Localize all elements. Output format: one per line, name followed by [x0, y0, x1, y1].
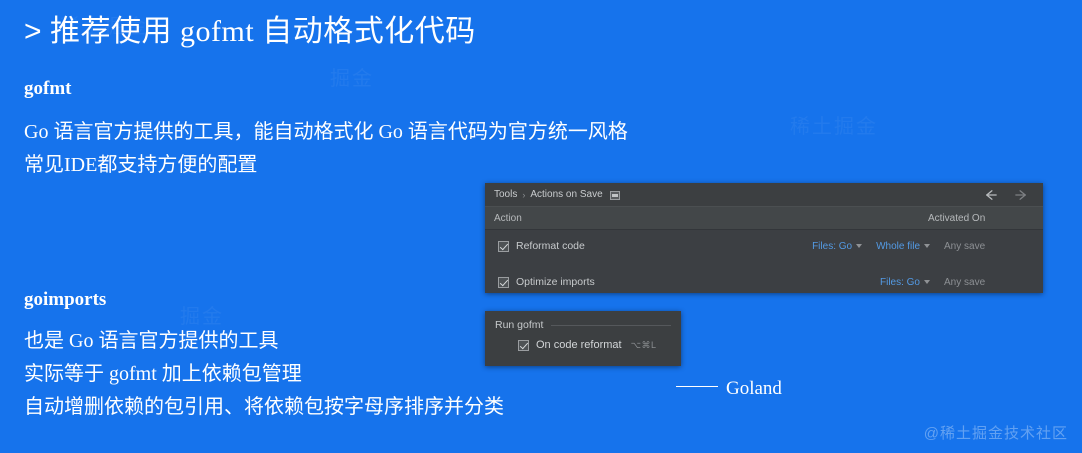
panel-breadcrumb-bar: Tools › Actions on Save [485, 183, 1043, 206]
range-dropdown[interactable]: Whole file [876, 241, 930, 252]
column-header-activated-on: Activated On [928, 213, 985, 224]
attribution-text: Goland [726, 378, 782, 399]
files-scope-dropdown[interactable]: Files: Go [812, 241, 862, 252]
page-title: > 推荐使用 gofmt 自动格式化代码 [24, 12, 476, 52]
reformat-code-checkbox[interactable] [498, 241, 509, 252]
section-line: 实际等于 gofmt 加上依赖包管理 [24, 358, 504, 391]
activated-on-value[interactable]: Any save [944, 241, 1034, 252]
section-line: Go 语言官方提供的工具，能自动格式化 Go 语言代码为官方统一风格 [24, 116, 628, 149]
table-header-row: Action Activated On [485, 206, 1043, 230]
row-label: Reformat code [516, 240, 585, 252]
section-goimports: goimports 也是 Go 语言官方提供的工具 实际等于 gofmt 加上依… [24, 287, 504, 424]
background-watermark: 稀土掘金 [790, 110, 878, 139]
title-text: 推荐使用 gofmt 自动格式化代码 [50, 15, 476, 48]
breadcrumb-separator: › [522, 190, 525, 200]
row-controls: Files: Go Whole file Any save [812, 241, 1034, 252]
settings-reset-icon[interactable] [610, 191, 620, 200]
run-gofmt-panel: Run gofmt On code reformat ⌥⌘L [485, 311, 681, 366]
title-marker: > [24, 15, 42, 48]
group-title: Run gofmt [495, 319, 543, 331]
on-code-reformat-checkbox[interactable] [518, 340, 529, 351]
chevron-down-icon [856, 244, 862, 248]
section-line: 常见IDE都支持方便的配置 [24, 149, 628, 182]
breadcrumb-current[interactable]: Actions on Save [530, 189, 602, 200]
row-label: Optimize imports [516, 276, 595, 288]
group-divider [551, 325, 671, 326]
section-gofmt: gofmt Go 语言官方提供的工具，能自动格式化 Go 语言代码为官方统一风格… [24, 76, 628, 182]
activated-on-value[interactable]: Any save [944, 277, 1034, 288]
row-label: On code reformat [536, 339, 622, 351]
chevron-down-icon [924, 244, 930, 248]
row-controls: Files: Go Any save [880, 277, 1034, 288]
attribution: Goland [676, 378, 782, 400]
panel-nav-arrows [983, 188, 1035, 202]
chevron-down-icon [924, 280, 930, 284]
on-code-reformat-row[interactable]: On code reformat ⌥⌘L [485, 331, 681, 351]
section-line: 也是 Go 语言官方提供的工具 [24, 325, 504, 358]
column-header-action: Action [494, 213, 522, 224]
section-heading: goimports [24, 287, 504, 313]
optimize-imports-checkbox[interactable] [498, 277, 509, 288]
table-row[interactable]: Optimize imports Files: Go Any save [485, 266, 1043, 293]
files-scope-dropdown[interactable]: Files: Go [880, 277, 930, 288]
section-heading: gofmt [24, 76, 628, 102]
keyboard-shortcut: ⌥⌘L [631, 340, 657, 351]
breadcrumb-root[interactable]: Tools [494, 189, 517, 200]
attribution-dash [676, 386, 718, 387]
back-arrow-icon[interactable] [983, 188, 998, 202]
community-watermark: @稀土掘金技术社区 [924, 422, 1068, 443]
group-header: Run gofmt [485, 311, 681, 331]
slide-canvas: 稀土掘金 掘金 稀土掘金技术社区 掘金 稀土掘金 > 推荐使用 gofmt 自动… [0, 0, 1082, 453]
actions-on-save-panel: Tools › Actions on Save Action Activated… [485, 183, 1043, 293]
section-line: 自动增删依赖的包引用、将依赖包按字母序排序并分类 [24, 391, 504, 424]
forward-arrow-icon[interactable] [1014, 188, 1029, 202]
table-row[interactable]: Reformat code Files: Go Whole file Any s… [485, 230, 1043, 262]
